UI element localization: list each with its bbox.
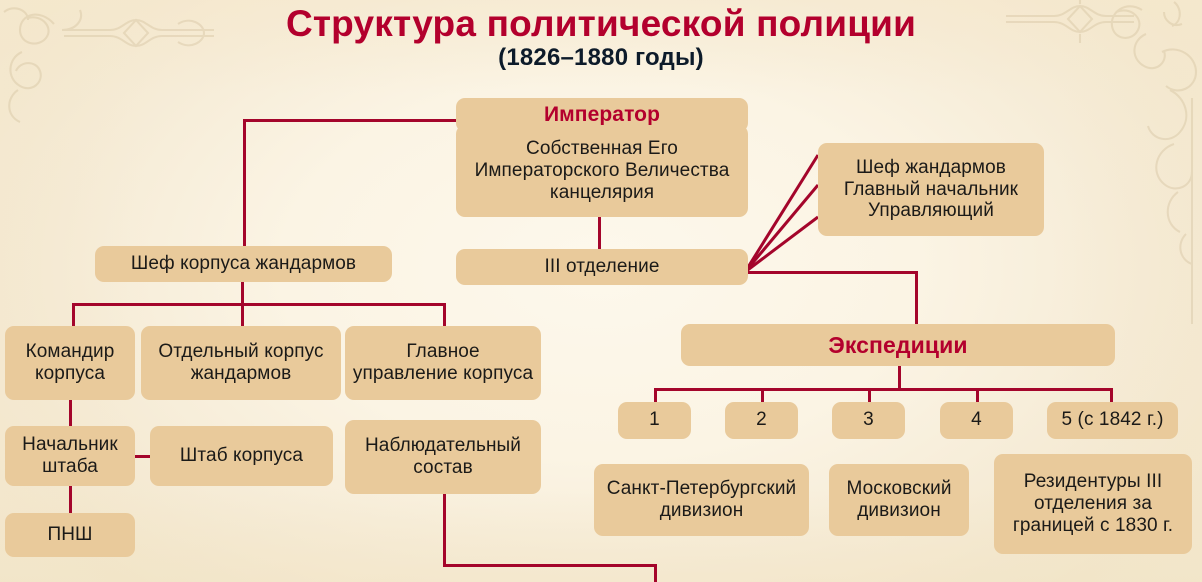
node-expedition-5[interactable]: 5 (с 1842 г.) — [1047, 402, 1178, 439]
connector-to-main-directorate — [443, 303, 446, 328]
node-expeditions[interactable]: Экспедиции — [681, 324, 1115, 366]
connector-corps-chief-down — [241, 278, 244, 306]
connector-to-expedition-3 — [868, 388, 871, 403]
connector-emperor-down-left — [243, 119, 246, 249]
node-pnsh[interactable]: ПНШ — [5, 513, 135, 557]
connector-observation-corner — [654, 564, 657, 582]
connector-observation-right — [443, 564, 657, 567]
node-gendarme-chiefs[interactable]: Шеф жандармов Главный начальник Управляю… — [818, 143, 1044, 236]
connector-to-expedition-4 — [976, 388, 979, 403]
node-foreign-residencies[interactable]: Резидентуры III отделения за границей с … — [994, 454, 1192, 554]
node-moscow-division[interactable]: Московский дивизион — [829, 464, 969, 536]
node-main-corps-directorate[interactable]: Главное управление корпуса — [345, 326, 541, 400]
connector-to-expedition-1 — [654, 388, 657, 403]
connector-to-corps-commander — [72, 303, 75, 328]
connector-corps-chief-bus — [72, 303, 446, 306]
connector-to-separate-corps — [241, 303, 244, 328]
connector-commander-to-staff-chief — [69, 399, 72, 427]
node-gendarme-corps-chief[interactable]: Шеф корпуса жандармов — [95, 246, 392, 282]
node-spb-division[interactable]: Санкт-Петербургский дивизион — [594, 464, 809, 536]
connector-observation-down — [443, 494, 446, 567]
node-third-section[interactable]: III отделение — [456, 249, 748, 285]
connector-to-expedition-2 — [761, 388, 764, 403]
connector-to-expedition-5 — [1110, 388, 1113, 403]
connector-expeditions-bus — [654, 388, 1112, 391]
connector-expeditions-down — [898, 365, 901, 390]
connector-emperor-to-left — [243, 119, 457, 122]
page-subtitle: (1826–1880 годы) — [0, 44, 1202, 72]
node-chancellery[interactable]: Собственная Его Императорского Величеств… — [456, 125, 748, 217]
connector-chancellery-to-third-section — [598, 215, 601, 250]
node-separate-gendarme-corps[interactable]: Отдельный корпус жандармов — [141, 326, 341, 400]
node-expedition-4[interactable]: 4 — [940, 402, 1013, 439]
node-gendarme-chiefs-label: Шеф жандармов Главный начальник Управляю… — [825, 157, 1037, 223]
node-expedition-1[interactable]: 1 — [618, 402, 691, 439]
page-title: Структура политической полиции — [0, 3, 1202, 45]
connector-staff-chief-to-pnsh — [69, 486, 72, 514]
node-expedition-2[interactable]: 2 — [725, 402, 798, 439]
node-staff-chief[interactable]: Начальник штаба — [5, 426, 135, 486]
connector-down-to-expeditions — [915, 271, 918, 325]
node-corps-staff[interactable]: Штаб корпуса — [150, 426, 333, 486]
node-corps-commander[interactable]: Командир корпуса — [5, 326, 135, 400]
diagram-canvas: Структура политической полиции (1826–188… — [0, 0, 1202, 582]
connector-third-section-right — [742, 271, 918, 274]
node-expedition-3[interactable]: 3 — [832, 402, 905, 439]
node-observation-staff[interactable]: Наблюдательный состав — [345, 420, 541, 494]
